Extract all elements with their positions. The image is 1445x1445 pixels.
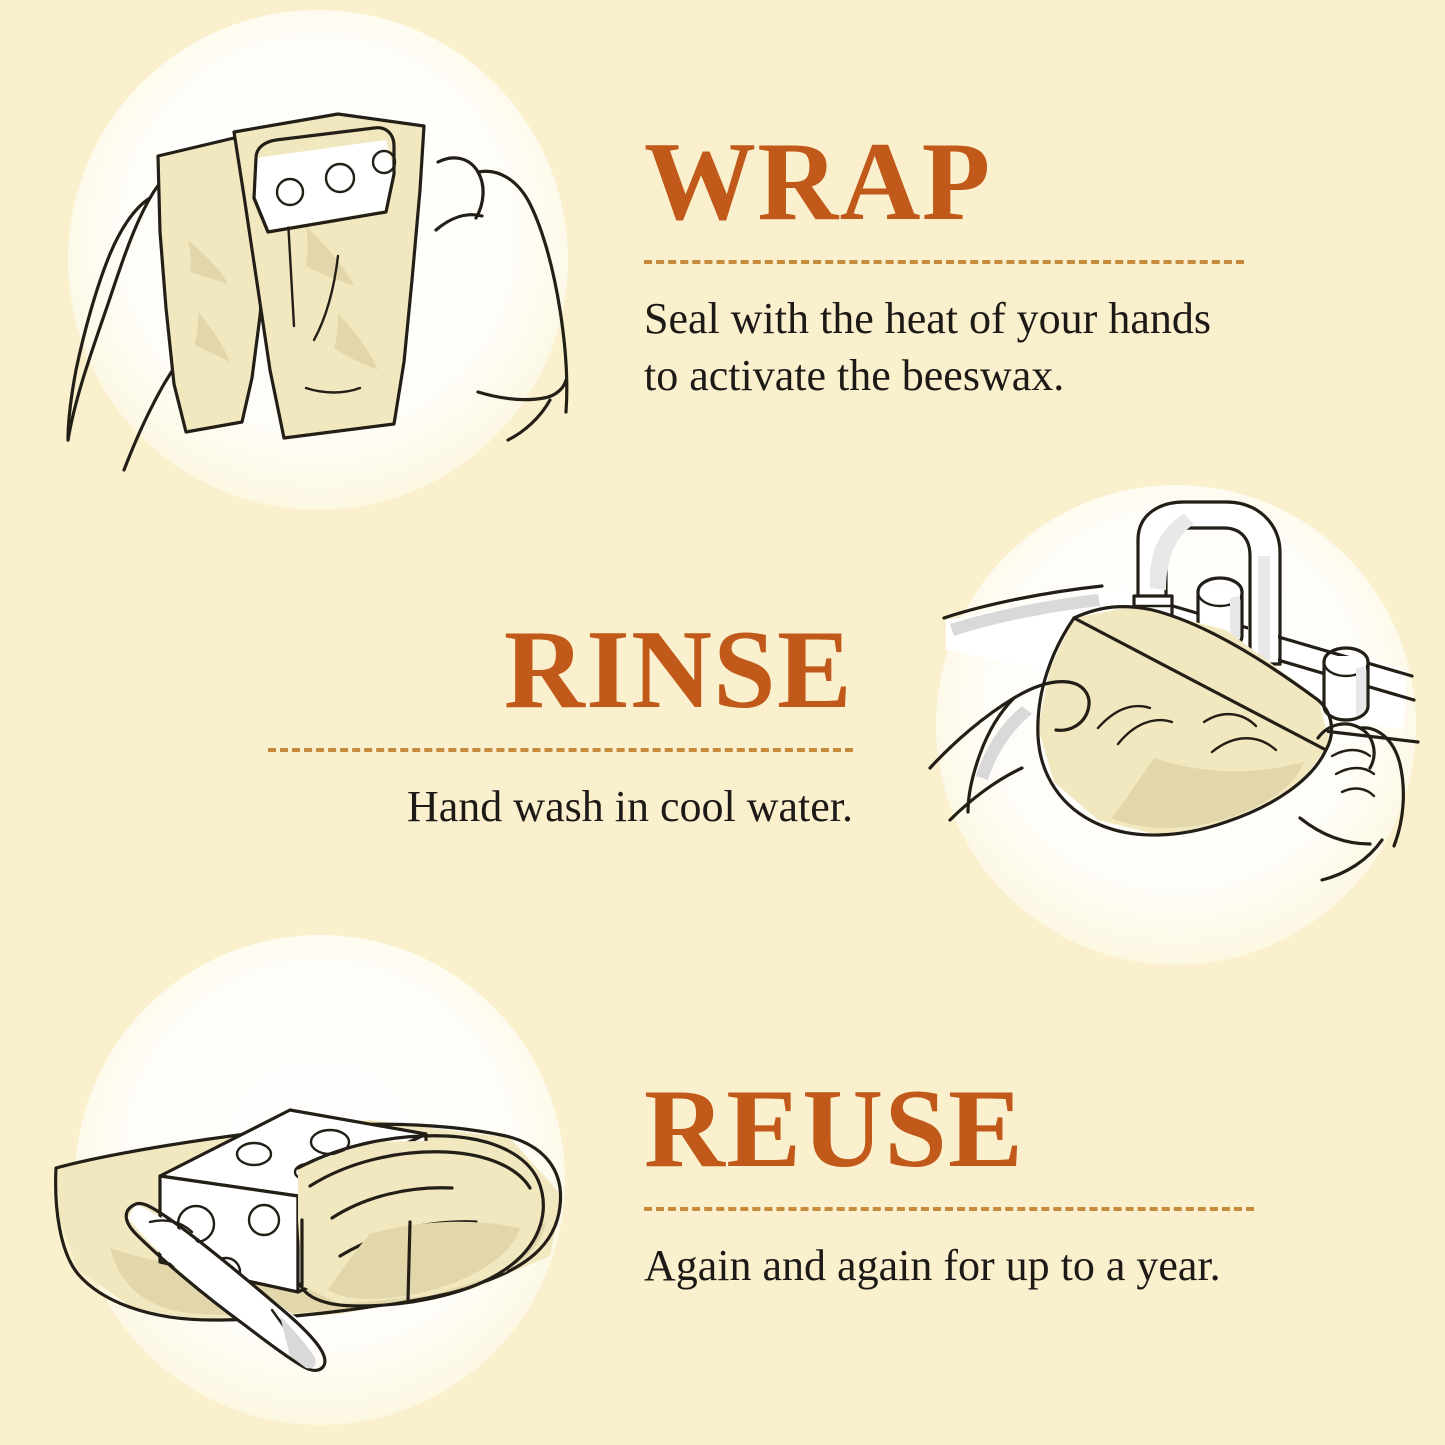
step-text-reuse: REUSE Again and again for up to a year. [644,1065,1254,1294]
infographic-canvas: WRAP Seal with the heat of your hands to… [0,0,1445,1445]
step-section-reuse: REUSE Again and again for up to a year. [0,930,1445,1430]
wrap-illustration-svg [38,40,598,480]
step-text-wrap: WRAP Seal with the heat of your hands to… [644,116,1244,404]
step-text-rinse: RINSE Hand wash in cool water. [268,614,853,835]
divider-reuse [644,1207,1254,1211]
step-body-rinse: Hand wash in cool water. [268,778,853,835]
divider-rinse [268,748,853,752]
step-section-wrap: WRAP Seal with the heat of your hands to… [0,10,1445,510]
illustration-cheese-block-wrapped-with-knife-on-board [20,930,620,1430]
step-body-reuse: Again and again for up to a year. [644,1237,1254,1294]
step-heading-rinse: RINSE [268,614,853,726]
step-body-wrap: Seal with the heat of your hands to acti… [644,290,1244,404]
divider-wrap [644,260,1244,264]
step-section-rinse: RINSE Hand wash in cool water. [0,495,1445,955]
illustration-hands-sealing-beeswax-wrap-around-cheese [18,10,618,510]
step-heading-reuse: REUSE [644,1073,1254,1185]
illustration-hands-washing-beeswax-wrap-under-faucet [913,475,1438,975]
step-heading-wrap: WRAP [644,126,1244,238]
reuse-illustration-svg [40,970,600,1390]
rinse-illustration-svg [926,500,1426,950]
